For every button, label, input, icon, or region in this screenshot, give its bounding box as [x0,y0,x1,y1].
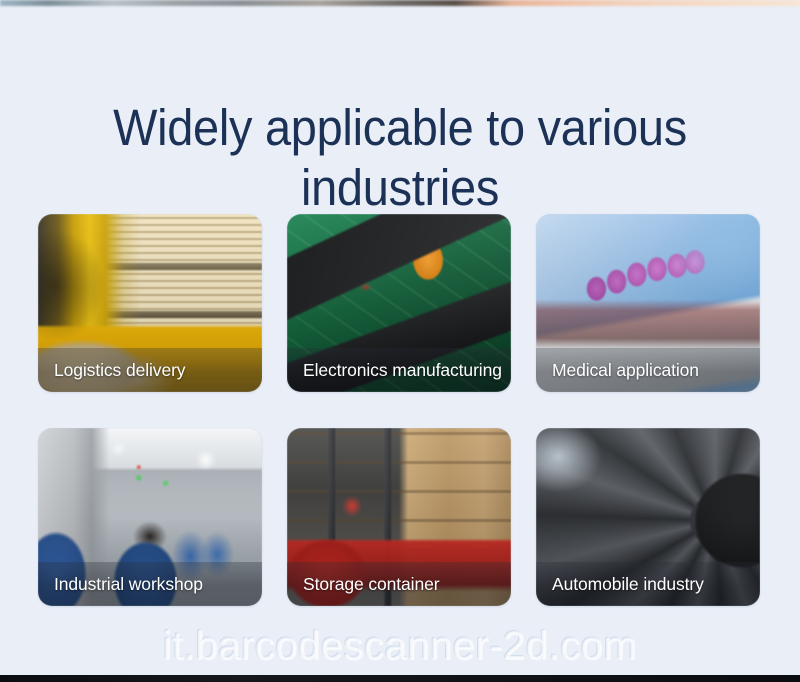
industries-showcase-page: { "page": { "background_color": "#e9eef7… [0,0,800,682]
bottom-image-sliver [0,675,800,682]
card-storage-container[interactable]: Storage container [287,428,511,606]
page-title: Widely applicable to various industries [32,98,768,218]
site-watermark: it.barcodescanner-2d.com [0,624,800,668]
card-electronics-manufacturing[interactable]: Electronics manufacturing [287,214,511,392]
card-automobile-industry[interactable]: Automobile industry [536,428,760,606]
card-caption: Medical application [536,348,760,392]
card-caption: Storage container [287,562,511,606]
card-medical-application[interactable]: Medical application [536,214,760,392]
card-industrial-workshop[interactable]: Industrial workshop [38,428,262,606]
card-caption: Logistics delivery [38,348,262,392]
card-caption: Automobile industry [536,562,760,606]
top-image-sliver [0,0,800,6]
card-caption: Electronics manufacturing [287,348,511,392]
card-logistics-delivery[interactable]: Logistics delivery [38,214,262,392]
card-caption: Industrial workshop [38,562,262,606]
industry-card-grid: Logistics delivery Electronics manufactu… [38,214,760,606]
